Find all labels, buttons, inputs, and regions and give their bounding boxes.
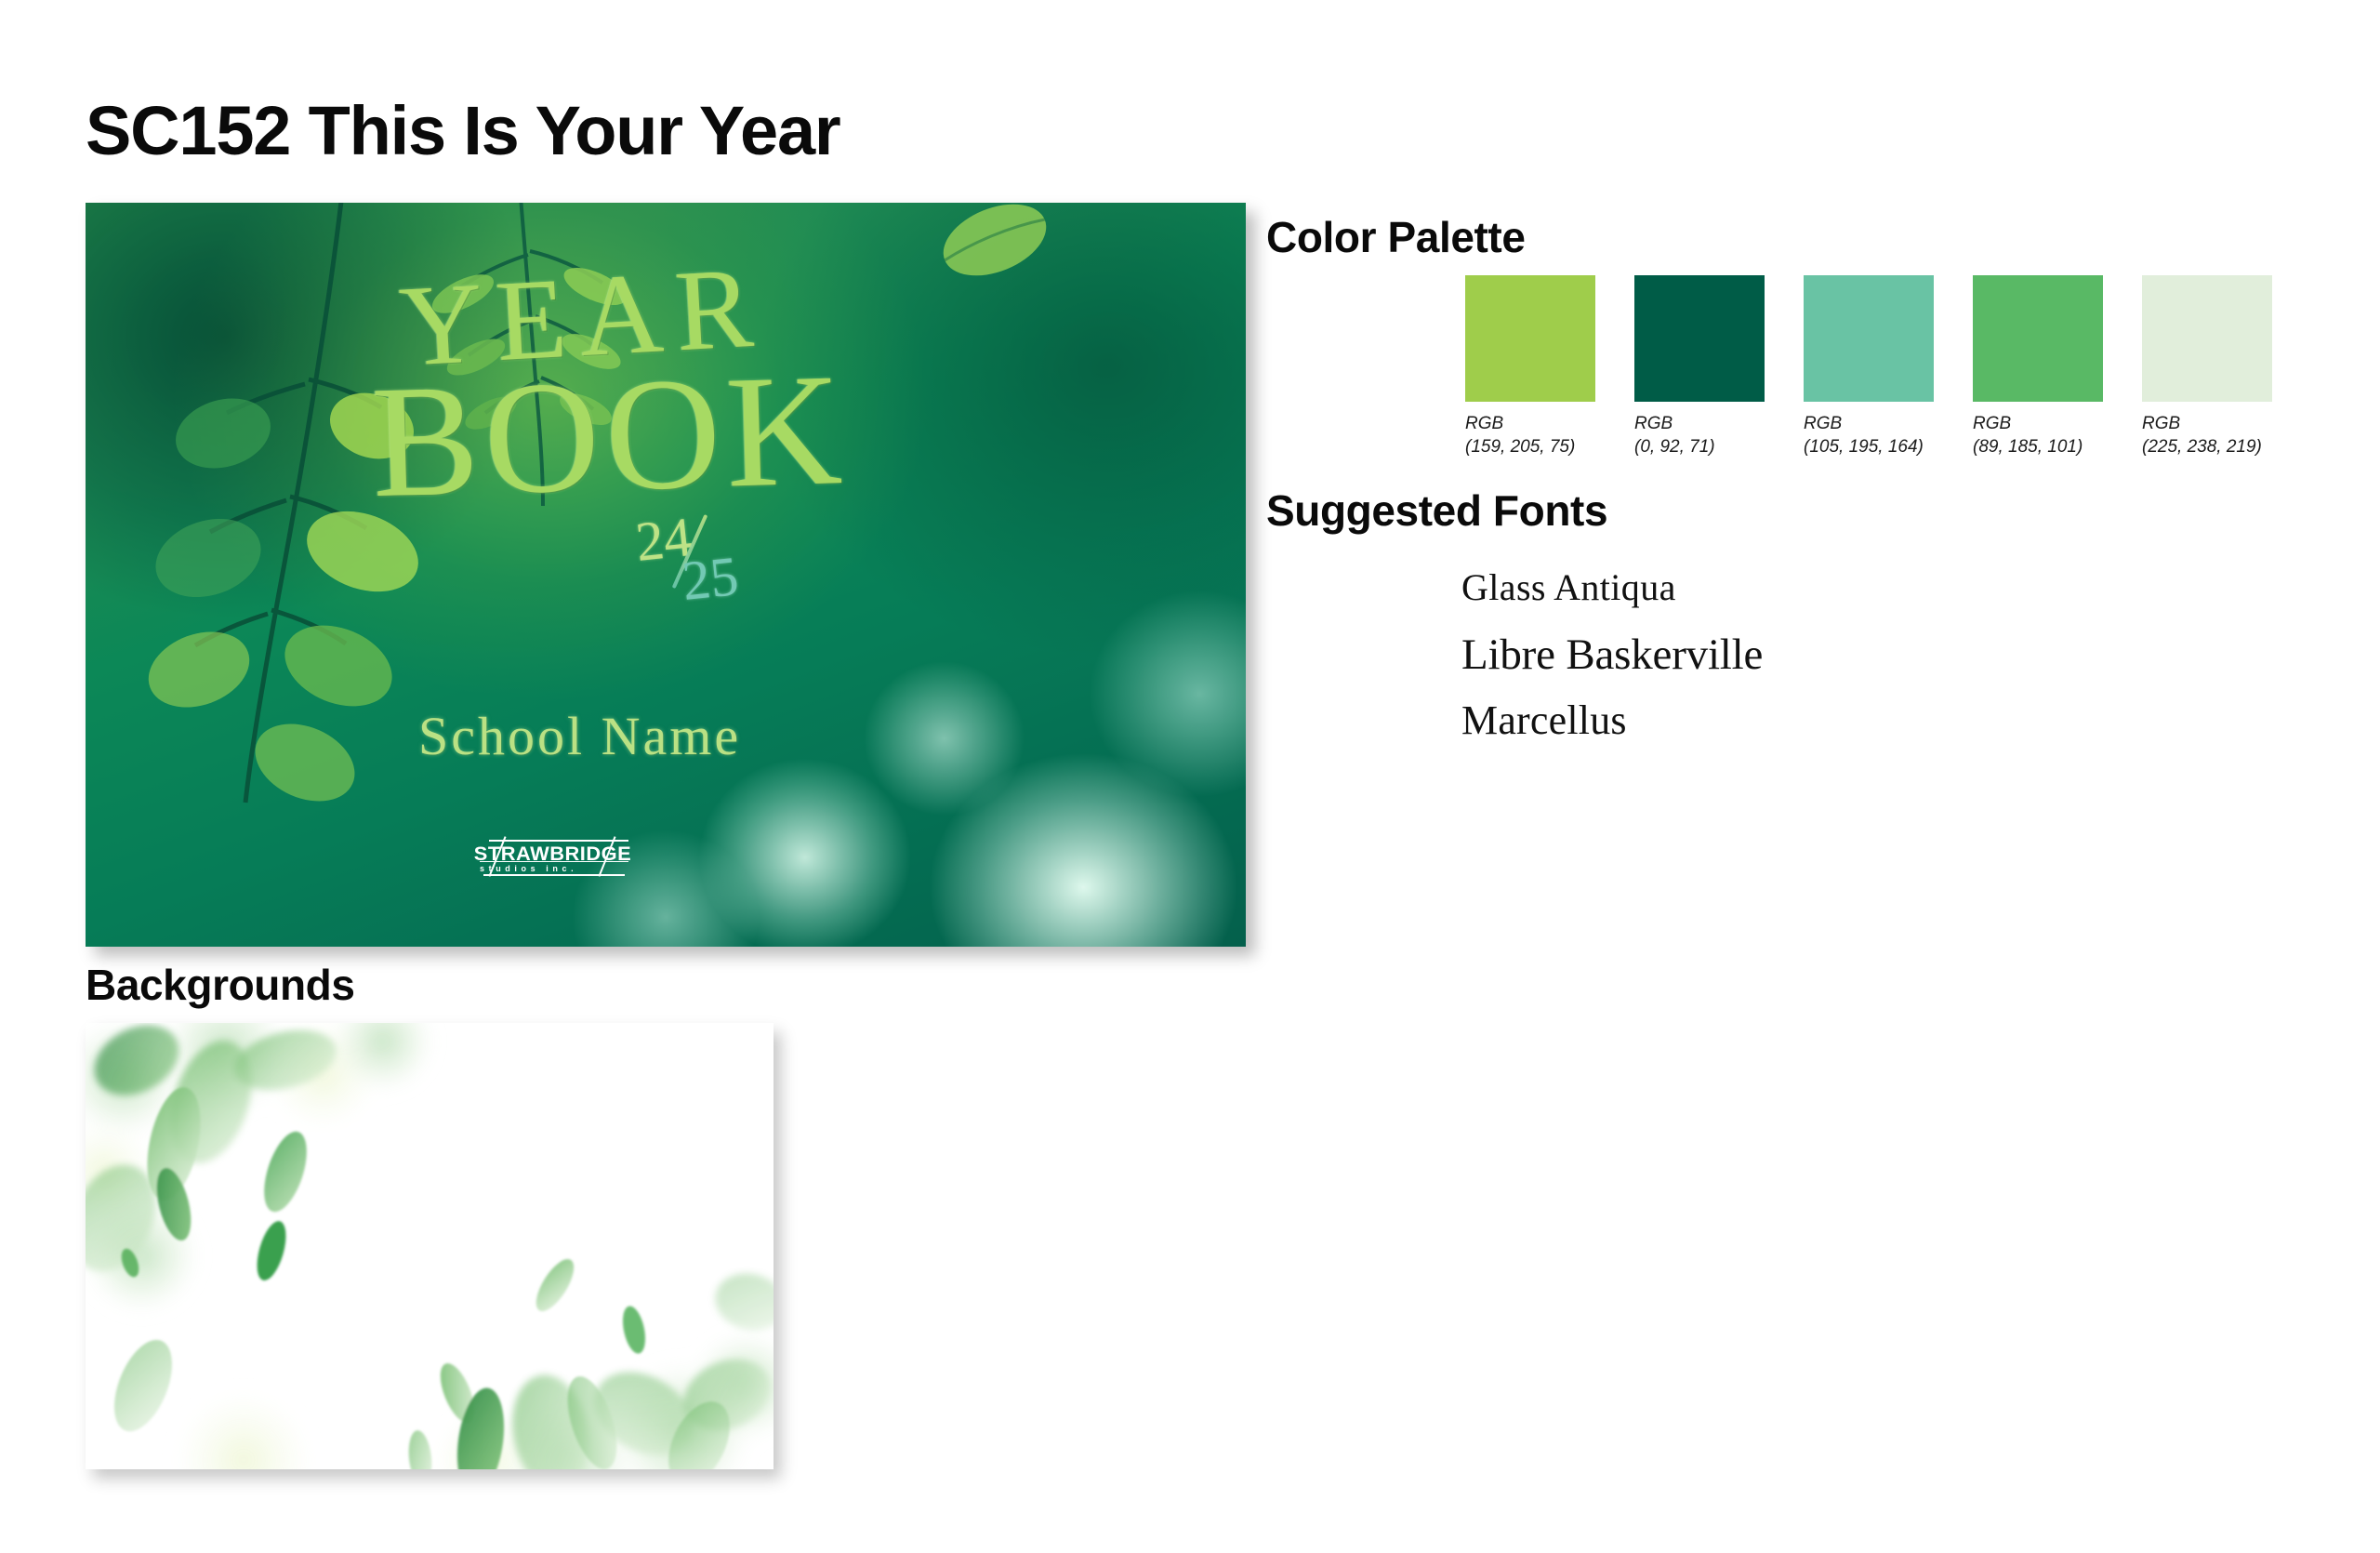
color-swatch-chip[interactable] [1973, 275, 2103, 402]
color-swatch-rgb-label: RGB(105, 195, 164) [1804, 412, 1934, 458]
backgrounds-heading: Backgrounds [86, 960, 355, 1010]
color-swatch-chip[interactable] [1634, 275, 1765, 402]
rgb-values: (159, 205, 75) [1465, 435, 1595, 458]
rgb-caption: RGB [2142, 412, 2272, 435]
background-thumbnail[interactable] [86, 1023, 773, 1469]
color-swatch-rgb-label: RGB(0, 92, 71) [1634, 412, 1765, 458]
rgb-values: (225, 238, 219) [2142, 435, 2272, 458]
rgb-caption: RGB [1634, 412, 1765, 435]
cover-line-book: BOOK [370, 362, 849, 512]
color-swatch-rgb-label: RGB(225, 238, 219) [2142, 412, 2272, 458]
leaf-top-right-icon [904, 203, 1090, 314]
rgb-values: (105, 195, 164) [1804, 435, 1934, 458]
rgb-values: (89, 185, 101) [1973, 435, 2103, 458]
rgb-caption: RGB [1465, 412, 1595, 435]
color-swatch-3[interactable]: RGB(105, 195, 164) [1804, 275, 1934, 458]
color-swatch-1[interactable]: RGB(159, 205, 75) [1465, 275, 1595, 458]
year-slash-icon [672, 514, 708, 589]
rgb-caption: RGB [1804, 412, 1934, 435]
font-sample-glass-antiqua: Glass Antiqua [1461, 565, 1763, 609]
color-swatch-chip[interactable] [2142, 275, 2272, 402]
logo-wordmark: STRAWBRIDGE [474, 843, 632, 866]
font-sample-marcellus: Marcellus [1461, 697, 1763, 744]
suggested-fonts-heading: Suggested Fonts [1266, 485, 1607, 536]
cover-photo-leaves: YEAR BOOK 24 25 School Name STRAWBRIDGE … [86, 203, 1246, 947]
color-swatch-row: RGB(159, 205, 75)RGB(0, 92, 71)RGB(105, … [1465, 275, 2272, 458]
color-swatch-chip[interactable] [1804, 275, 1934, 402]
color-swatch-rgb-label: RGB(89, 185, 101) [1973, 412, 2103, 458]
color-palette-heading: Color Palette [1266, 212, 1526, 262]
color-swatch-2[interactable]: RGB(0, 92, 71) [1634, 275, 1765, 458]
background-leaves-artwork [86, 1023, 773, 1469]
design-spec-sheet: SC152 This Is Your Year [0, 0, 2380, 1553]
color-swatch-chip[interactable] [1465, 275, 1595, 402]
cover-year-bottom: 25 [680, 544, 742, 614]
cover-chalk-lettering: YEAR BOOK 24 25 [392, 268, 969, 658]
logo-subtitle: studios inc. [480, 864, 577, 873]
branch-fern-icon [402, 203, 681, 513]
cover-line-year: YEAR [397, 258, 768, 377]
suggested-fonts-list: Glass Antiqua Libre Baskerville Marcellu… [1461, 565, 1763, 744]
page-title: SC152 This Is Your Year [86, 97, 840, 166]
cover-year-top: 24 [633, 505, 695, 575]
font-sample-libre-baskerville: Libre Baskerville [1461, 630, 1763, 680]
logo-bottom-line [483, 874, 625, 876]
color-swatch-4[interactable]: RGB(89, 185, 101) [1973, 275, 2103, 458]
yearbook-cover-preview[interactable]: YEAR BOOK 24 25 School Name STRAWBRIDGE … [86, 203, 1246, 947]
logo-top-line [489, 840, 628, 842]
strawbridge-logo: STRAWBRIDGE studios inc. [474, 835, 634, 878]
rgb-values: (0, 92, 71) [1634, 435, 1765, 458]
cover-school-name: School Name [418, 705, 741, 767]
rgb-caption: RGB [1973, 412, 2103, 435]
color-swatch-5[interactable]: RGB(225, 238, 219) [2142, 275, 2272, 458]
color-swatch-rgb-label: RGB(159, 205, 75) [1465, 412, 1595, 458]
